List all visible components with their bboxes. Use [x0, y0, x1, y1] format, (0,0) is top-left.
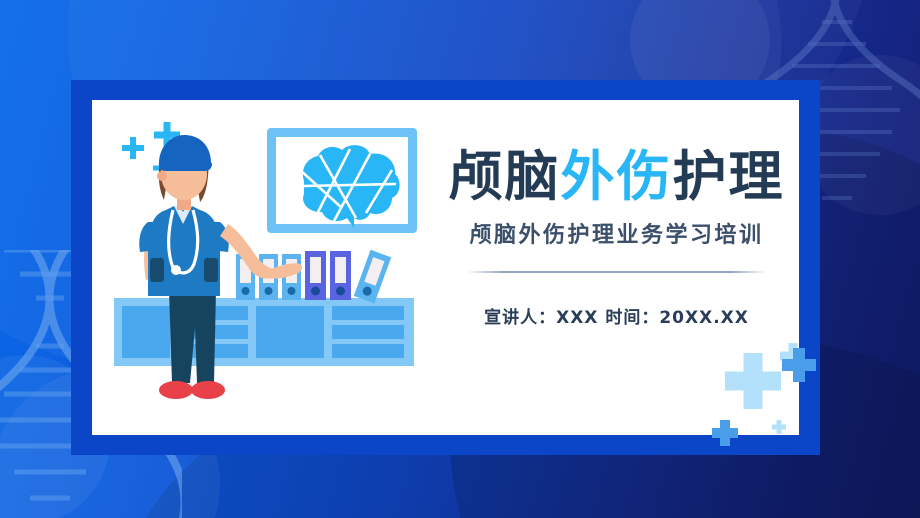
page-subtitle: 颅脑外伤护理业务学习培训 [444, 217, 789, 249]
cross-decor-tiny-icon [772, 420, 786, 434]
content-card-frame: 颅脑外伤护理 颅脑外伤护理业务学习培训 宣讲人：XXX 时间：20XX.XX [71, 80, 820, 455]
divider-line [467, 271, 767, 273]
page-title: 颅脑外伤护理 [444, 148, 789, 205]
presenter-meta: 宣讲人：XXX 时间：20XX.XX [444, 303, 789, 328]
presentation-slide: 颅脑外伤护理 颅脑外伤护理业务学习培训 宣讲人：XXX 时间：20XX.XX [0, 0, 920, 518]
binder-6-tilted [354, 250, 391, 304]
shoe-left [159, 381, 193, 399]
binder-5 [330, 251, 351, 300]
cross-decor-small-icon [780, 343, 799, 369]
brain-scan-display [267, 128, 417, 233]
cabinet [114, 298, 414, 366]
title-part-1: 颅脑 [449, 145, 561, 208]
text-column: 颅脑外伤护理 颅脑外伤护理业务学习培训 宣讲人：XXX 时间：20XX.XX [444, 148, 789, 328]
shoe-right [191, 381, 225, 399]
stethoscope-chestpiece [171, 265, 181, 275]
binder-4 [305, 251, 326, 300]
nurse-presenting-brain-scan-illustration [104, 118, 434, 428]
title-part-2: 护理 [673, 145, 785, 208]
title-highlight: 外伤 [561, 145, 673, 208]
content-card: 颅脑外伤护理 颅脑外伤护理业务学习培训 宣讲人：XXX 时间：20XX.XX [92, 100, 799, 435]
cross-decor-large-icon [725, 353, 781, 409]
